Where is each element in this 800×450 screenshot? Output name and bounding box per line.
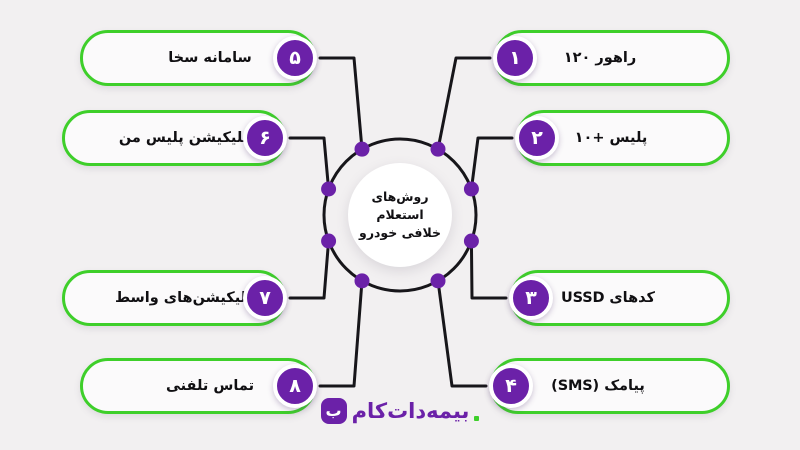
node-pill-1[interactable]: ۱راهور ۱۲۰ bbox=[494, 30, 730, 86]
node-badge-3: ۳ bbox=[509, 276, 553, 320]
ring-dot-8 bbox=[355, 273, 370, 288]
ring-dot-5 bbox=[355, 142, 370, 157]
connector-line-6 bbox=[290, 138, 329, 189]
node-pill-7[interactable]: ۷اپلیکیشن‌های واسط bbox=[62, 270, 286, 326]
ring-dot-3 bbox=[464, 233, 479, 248]
logo-accent-dot bbox=[474, 416, 479, 421]
node-pill-6[interactable]: ۶اپلیکیشن پلیس من bbox=[62, 110, 286, 166]
connector-line-1 bbox=[438, 58, 490, 149]
connector-line-2 bbox=[471, 138, 512, 189]
ring-dot-7 bbox=[321, 233, 336, 248]
logo-mark-icon: ب bbox=[321, 398, 347, 424]
connector-line-5 bbox=[320, 58, 362, 149]
hub-title: روش‌های استعلام خلافی خودرو bbox=[359, 188, 441, 242]
ring-dot-2 bbox=[464, 182, 479, 197]
ring-dot-6 bbox=[321, 182, 336, 197]
connector-line-8 bbox=[320, 281, 362, 386]
hub-circle: روش‌های استعلام خلافی خودرو bbox=[348, 163, 452, 267]
node-badge-5: ۵ bbox=[273, 36, 317, 80]
node-badge-6: ۶ bbox=[243, 116, 287, 160]
connector-line-4 bbox=[438, 281, 486, 386]
connector-line-7 bbox=[290, 241, 329, 298]
node-badge-2: ۲ bbox=[515, 116, 559, 160]
node-pill-5[interactable]: ۵سامانه سخا bbox=[80, 30, 316, 86]
connector-line-3 bbox=[471, 241, 506, 298]
node-pill-2[interactable]: ۲پلیس +۱۰ bbox=[516, 110, 730, 166]
node-badge-1: ۱ bbox=[493, 36, 537, 80]
ring-dot-1 bbox=[431, 142, 446, 157]
node-badge-7: ۷ bbox=[243, 276, 287, 320]
brand-logo: بیمه‌دات‌کام ب bbox=[0, 398, 800, 424]
logo-wordmark: بیمه‌دات‌کام bbox=[352, 399, 470, 423]
ring-dot-4 bbox=[431, 273, 446, 288]
node-pill-3[interactable]: ۳کدهای USSD bbox=[510, 270, 730, 326]
infographic-canvas: روش‌های استعلام خلافی خودرو ۱راهور ۱۲۰۲پ… bbox=[0, 0, 800, 450]
